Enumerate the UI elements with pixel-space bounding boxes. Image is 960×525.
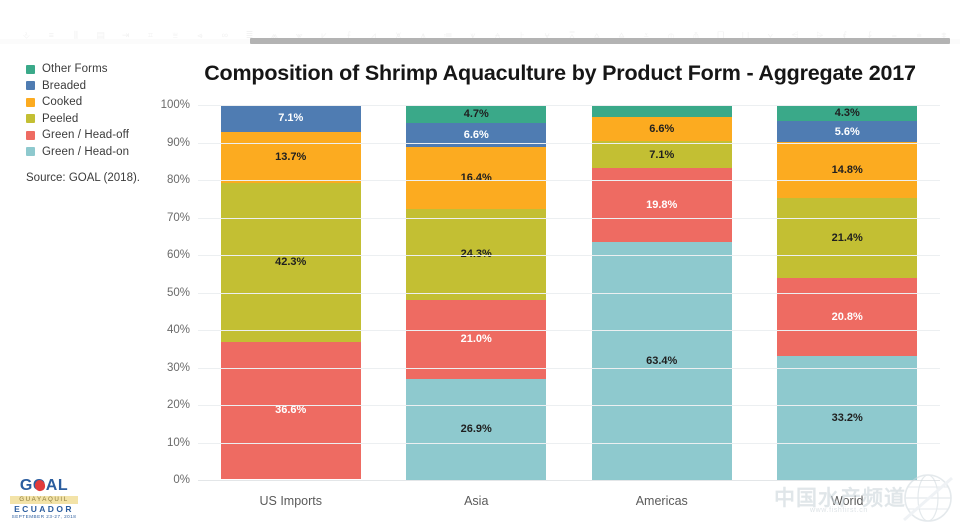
legend-swatch-icon [26, 65, 35, 74]
gridline [198, 443, 940, 444]
bar-segment-green-head-off[interactable]: 20.8% [777, 278, 917, 356]
slide-canvas: Other FormsBreadedCookedPeeledGreen / He… [0, 45, 960, 525]
bar-segment-cooked[interactable]: 6.6% [592, 117, 732, 142]
gridline [198, 293, 940, 294]
legend-swatch-icon [26, 114, 35, 123]
legend-label: Green / Head-on [42, 146, 129, 158]
x-axis: US ImportsAsiaAmericasWorld [198, 482, 940, 512]
toolbar-ruler-strip: ⎀≡⫼▤⇥⌗⩸⩹∞≣⩕⩖⩗⨍⩘⩙⩚≔⩛⩜⊦⩝⩞⩟⩠⩡⫙⫚⨅⨆⩣⩤⩥⨐⨑⩦⩧⩨ [0, 0, 960, 40]
scrollbar-row [0, 37, 960, 45]
legend-swatch-icon [26, 81, 35, 90]
bar-segment-peeled[interactable]: 21.4% [777, 198, 917, 278]
gridline [198, 405, 940, 406]
legend-label: Peeled [42, 113, 78, 125]
gridline [198, 143, 940, 144]
bar-segment-breaded[interactable]: 7.1% [221, 105, 361, 132]
bar-segment-green-head-on[interactable]: 26.9% [406, 379, 546, 480]
y-axis-tick-label: 50% [167, 287, 190, 299]
legend-label: Breaded [42, 80, 86, 92]
y-axis-tick-label: 30% [167, 362, 190, 374]
bar-segment-green-head-on[interactable]: 33.2% [777, 356, 917, 481]
legend-label: Cooked [42, 96, 82, 108]
y-axis-tick-label: 90% [167, 137, 190, 149]
bar-segment-breaded[interactable]: 5.6% [777, 121, 917, 142]
bar-segment-other-forms[interactable]: 4.7% [406, 105, 546, 123]
bar-segment-breaded[interactable]: 6.6% [406, 123, 546, 148]
bar-segment-other-forms[interactable] [592, 105, 732, 117]
gridline [198, 105, 940, 106]
legend-item-other-forms[interactable]: Other Forms [26, 61, 186, 78]
legend-swatch-icon [26, 147, 35, 156]
gridline [198, 180, 940, 181]
y-axis: 0%10%20%30%40%50%60%70%80%90%100% [150, 105, 194, 480]
x-axis-label: US Imports [198, 482, 384, 512]
y-axis-tick-label: 80% [167, 174, 190, 186]
y-axis-tick-label: 20% [167, 399, 190, 411]
bar-segment-peeled[interactable]: 42.3% [221, 183, 361, 342]
goal-logo-city: GUAYAQUIL [10, 496, 78, 504]
y-axis-tick-label: 100% [161, 99, 190, 111]
bar-segment-other-forms[interactable]: 4.3% [777, 105, 917, 121]
x-axis-label: Americas [569, 482, 755, 512]
gridline [198, 218, 940, 219]
x-axis-line [198, 480, 940, 481]
gridline [198, 368, 940, 369]
y-axis-tick-label: 70% [167, 212, 190, 224]
x-axis-label: Asia [384, 482, 570, 512]
y-axis-tick-label: 60% [167, 249, 190, 261]
bar-segment-cooked[interactable]: 14.8% [777, 142, 917, 198]
scrollbar-thumb[interactable] [250, 38, 950, 44]
goal-logo-word: GOAL [20, 478, 68, 494]
y-axis-tick-label: 40% [167, 324, 190, 336]
goal-logo: GOAL GUAYAQUIL ECUADOR SEPTEMBER 23-27, … [8, 477, 80, 521]
legend-swatch-icon [26, 98, 35, 107]
shrimp-icon [34, 479, 46, 492]
plot-area: 0%10%20%30%40%50%60%70%80%90%100% 7.1%13… [150, 105, 940, 515]
legend-label: Other Forms [42, 63, 108, 75]
gridline [198, 330, 940, 331]
x-axis-label: World [755, 482, 941, 512]
goal-logo-date: SEPTEMBER 23-27, 2018 [8, 514, 80, 520]
bar-segment-green-head-off[interactable]: 36.6% [221, 342, 361, 479]
legend-item-breaded[interactable]: Breaded [26, 78, 186, 95]
bar-segment-cooked[interactable]: 13.7% [221, 132, 361, 183]
plot-canvas: 7.1%13.7%42.3%36.6%4.7%6.6%16.4%24.3%21.… [198, 105, 940, 480]
y-axis-tick-label: 0% [173, 474, 190, 486]
bar-segment-peeled[interactable]: 7.1% [592, 141, 732, 168]
goal-logo-country: ECUADOR [8, 504, 80, 514]
gridline [198, 255, 940, 256]
legend-swatch-icon [26, 131, 35, 140]
bar-segment-green-head-on[interactable]: 63.4% [592, 242, 732, 480]
bar-segment-cooked[interactable]: 16.4% [406, 147, 546, 209]
chart-title: Composition of Shrimp Aquaculture by Pro… [175, 61, 945, 86]
y-axis-tick-label: 10% [167, 437, 190, 449]
legend-label: Green / Head-off [42, 129, 129, 141]
source-note: Source: GOAL (2018). [26, 171, 166, 186]
